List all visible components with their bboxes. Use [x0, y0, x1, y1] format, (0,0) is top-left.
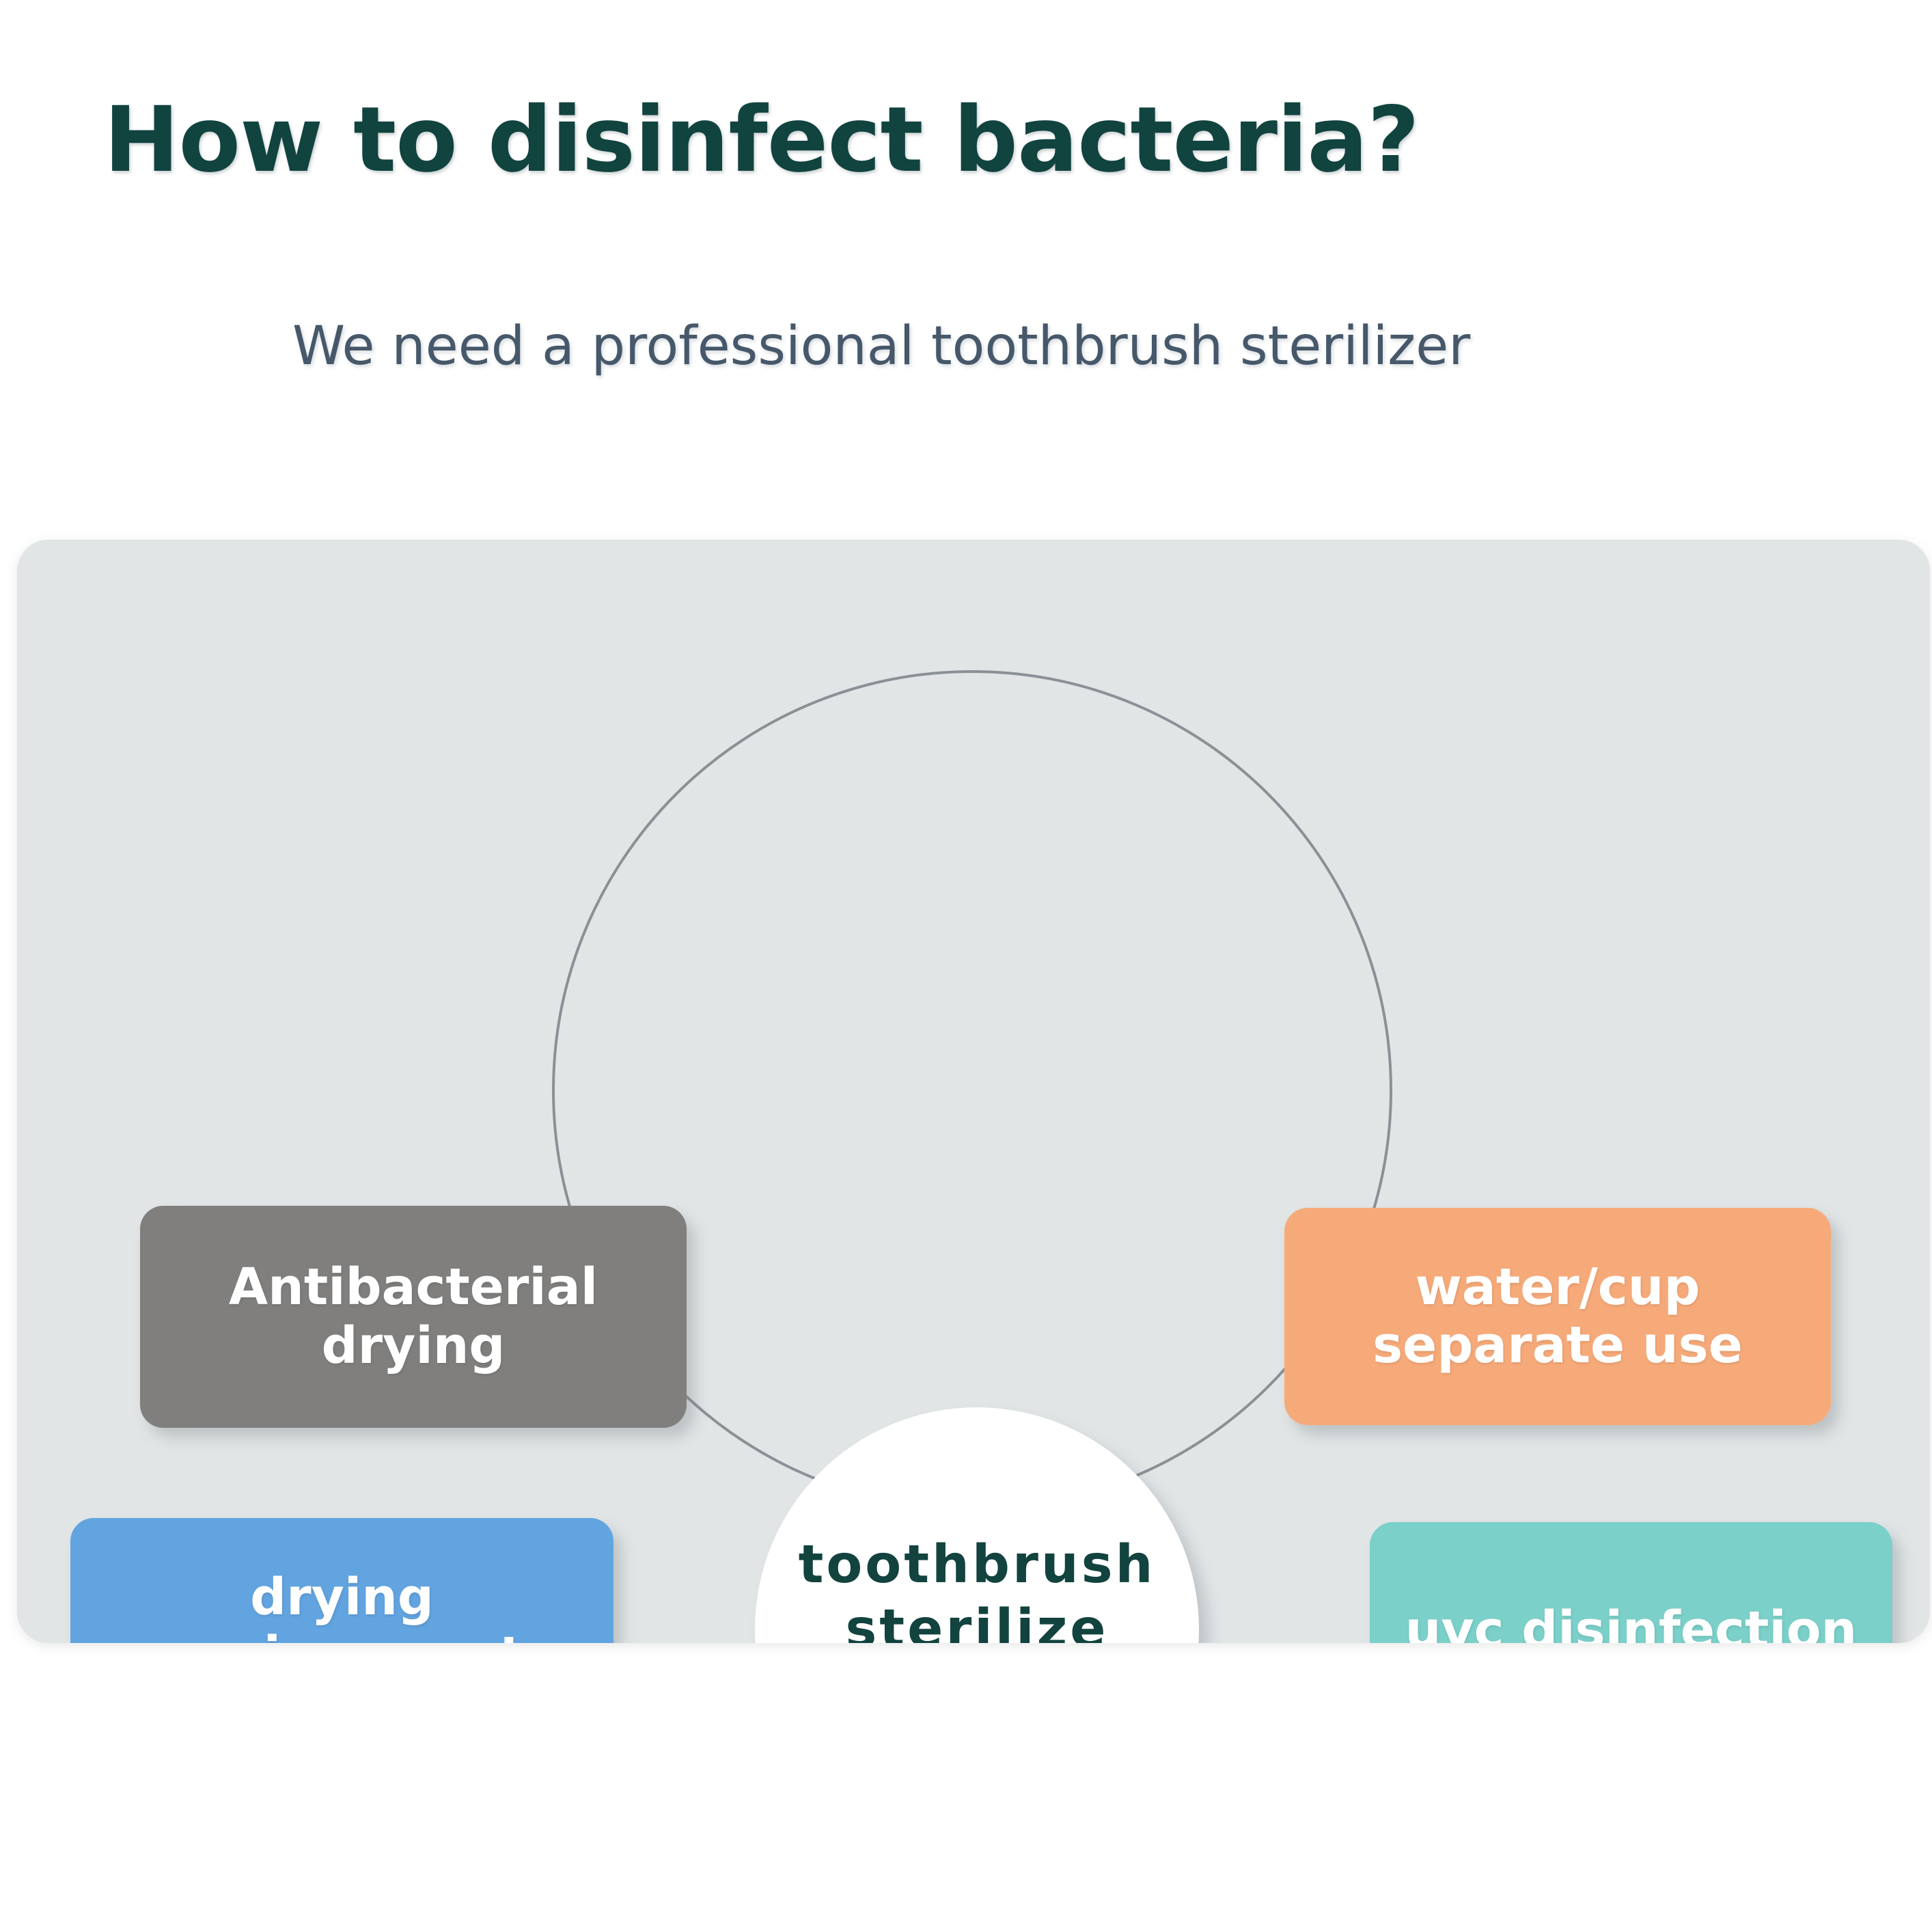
node-antibacterial-drying[interactable]: Antibacterial drying	[140, 1206, 687, 1428]
diagram-panel: toothbrush sterilize holder Antibacteria…	[17, 540, 1930, 1643]
page-subtitle: We need a professional toothbrush steril…	[292, 316, 1470, 377]
node-water-cup-separate-use[interactable]: water/cup separate use	[1284, 1208, 1831, 1425]
node-uvc-disinfection[interactable]: uvc disinfection	[1370, 1522, 1892, 1643]
infographic-canvas: How to disinfect bacteria? We need a pro…	[0, 0, 1932, 1932]
page-title: How to disinfect bacteria?	[104, 87, 1419, 193]
node-label-drying-environment: drying environment	[87, 1569, 597, 1643]
hub-label-line-1: toothbrush	[799, 1533, 1156, 1597]
node-label-antibacterial-drying: Antibacterial drying	[156, 1258, 670, 1375]
node-drying-environment[interactable]: drying environment	[70, 1518, 613, 1643]
hub-label-line-2: sterilize	[845, 1597, 1108, 1643]
node-label-uvc-disinfection: uvc disinfection	[1405, 1601, 1857, 1643]
node-label-water-cup-separate-use: water/cup separate use	[1301, 1258, 1814, 1375]
